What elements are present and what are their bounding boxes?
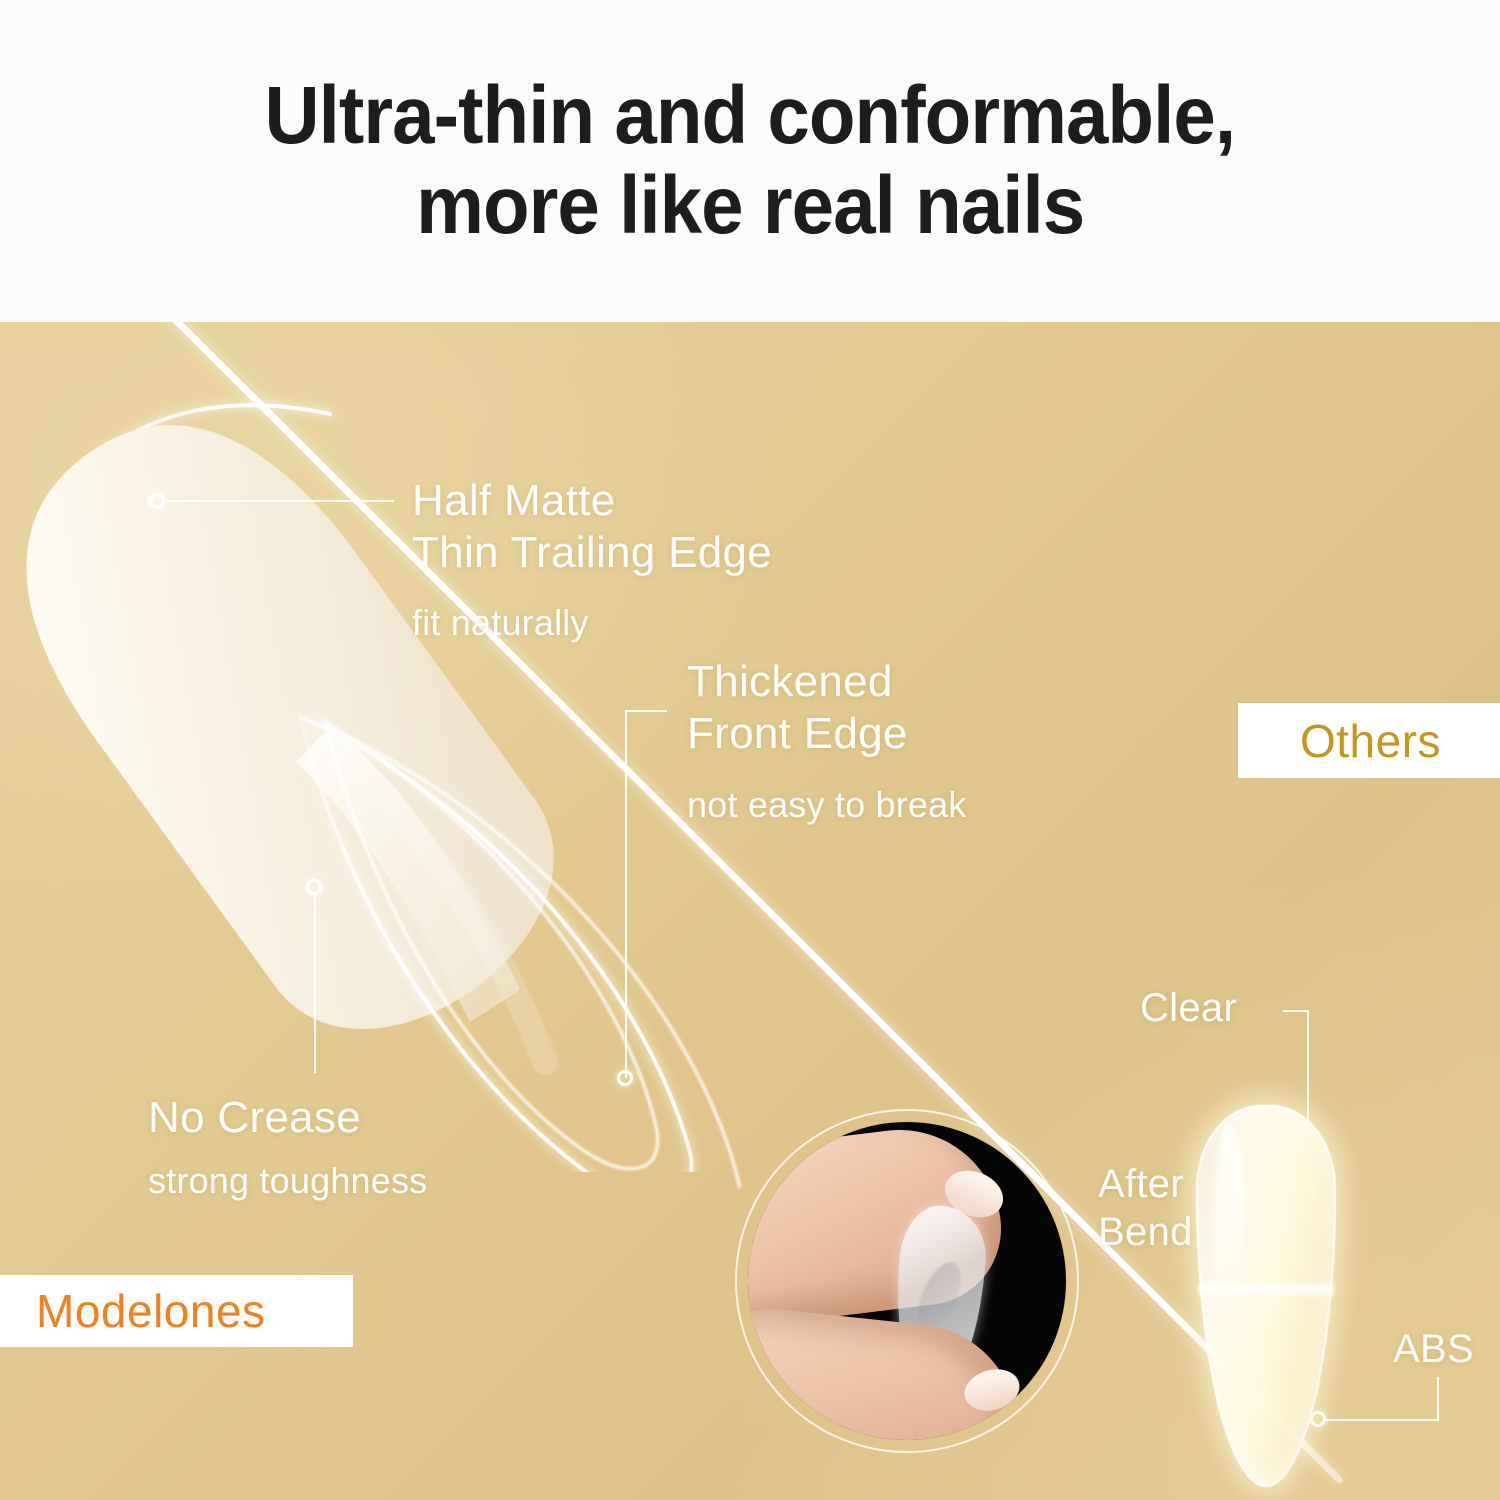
photo-inset-pinched-nail[interactable] xyxy=(748,1122,1066,1440)
badge-others[interactable]: Others xyxy=(1238,703,1500,778)
headline-line-1: Ultra-thin and conformable, xyxy=(265,74,1236,158)
badge-modelones[interactable]: Modelones xyxy=(0,1275,353,1347)
callout-title-front-edge-1: Thickened xyxy=(687,656,893,708)
abs-nail-rim xyxy=(1196,1105,1336,1487)
callout-title-half-matte-1: Half Matte xyxy=(412,475,616,527)
label-after-bend-2: Bend xyxy=(1098,1208,1193,1257)
callout-line-half-matte xyxy=(166,500,394,502)
badge-modelones-label: Modelones xyxy=(36,1284,266,1338)
product-feature-infographic: Ultra-thin and conformable, more like re… xyxy=(0,0,1500,1500)
callout-dot-no-crease xyxy=(306,879,322,895)
callout-sub-no-crease: strong toughness xyxy=(148,1160,427,1202)
callout-line-abs-vertical xyxy=(1437,1377,1439,1421)
badge-others-label: Others xyxy=(1300,714,1441,768)
callout-line-clear-horizontal xyxy=(1283,1010,1309,1012)
callout-title-front-edge-2: Front Edge xyxy=(687,708,908,760)
callout-title-half-matte-2: Thin Trailing Edge xyxy=(412,527,772,579)
callout-dot-half-matte xyxy=(149,493,165,509)
callout-sub-half-matte: fit naturally xyxy=(412,602,589,644)
label-abs: ABS xyxy=(1393,1325,1474,1374)
label-after-bend-1: After xyxy=(1098,1160,1184,1209)
callout-line-front-edge-horizontal xyxy=(625,710,667,712)
callout-sub-front-edge: not easy to break xyxy=(687,784,967,826)
callout-line-front-edge-vertical xyxy=(625,710,627,1078)
others-abs-nail xyxy=(1196,1105,1336,1487)
headline-banner: Ultra-thin and conformable, more like re… xyxy=(0,0,1500,322)
comparison-stage: Half Matte Thin Trailing Edge fit natura… xyxy=(0,322,1500,1500)
label-clear: Clear xyxy=(1140,984,1237,1033)
glow-sweep-group xyxy=(0,322,820,1222)
glow-sweep-1 xyxy=(300,717,740,1188)
callout-line-abs-horizontal xyxy=(1323,1419,1439,1421)
callout-line-no-crease xyxy=(314,895,316,1073)
callout-title-no-crease: No Crease xyxy=(148,1092,361,1144)
headline-line-2: more like real nails xyxy=(416,164,1084,248)
